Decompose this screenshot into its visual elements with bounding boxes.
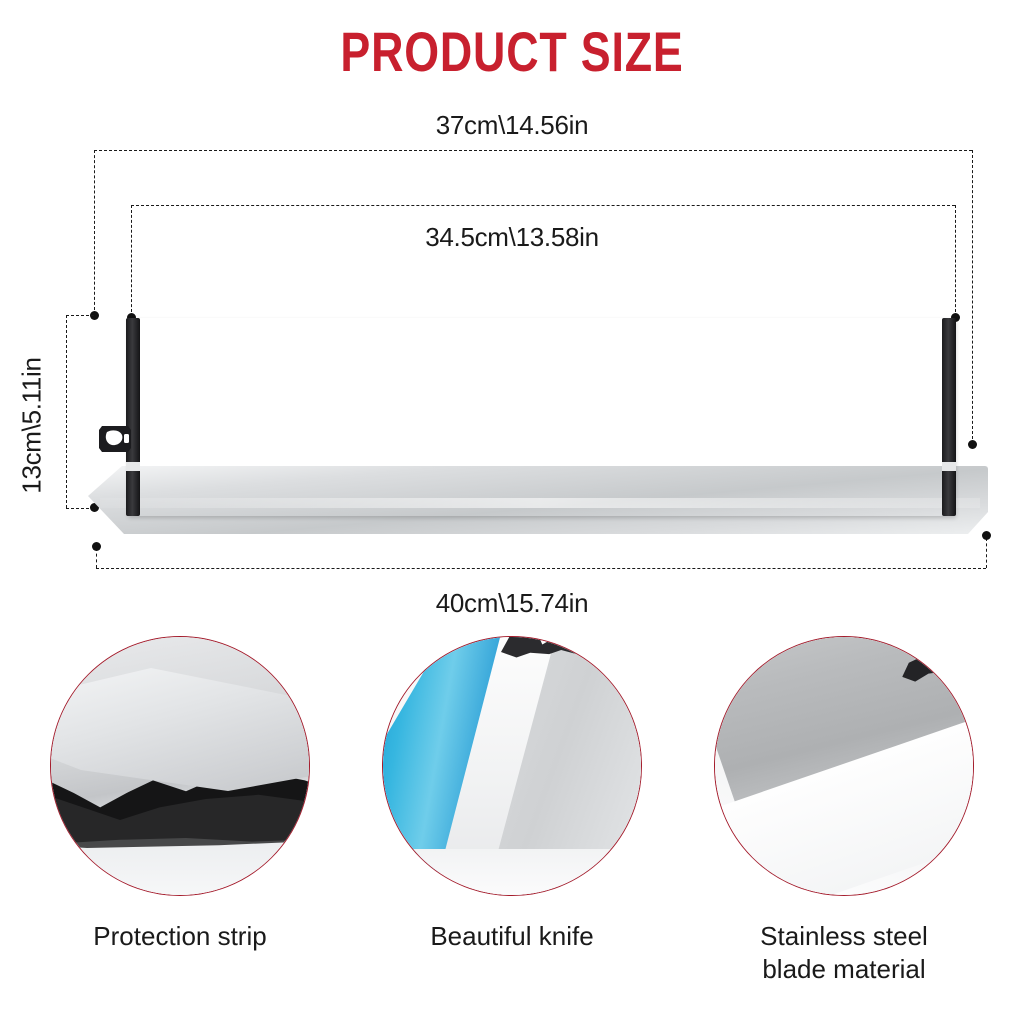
feature-beautiful-knife: Beautiful knife [342,636,682,953]
feature-caption-beautiful-knife: Beautiful knife [342,920,682,953]
feature-caption-stainless-steel-blade: Stainless steel blade material [674,920,1014,987]
endcap-gap-left [126,462,140,471]
feature-image-stainless-steel-blade [714,636,974,896]
feature-stainless-steel-blade: Stainless steel blade material [674,636,1014,987]
product-illustration [0,0,1024,640]
product-size-infographic: PRODUCT SIZE 37cm\14.56in 34.5cm\13.58in… [0,0,1024,1024]
feature-gallery: Protection strip Beautiful knife [0,636,1024,1024]
endcap-left [126,318,140,516]
feature-image-beautiful-knife [382,636,642,896]
endcap-gap-right [942,462,956,471]
feature-caption-protection-strip: Protection strip [10,920,350,953]
hanging-hook-icon [98,420,134,456]
feature-image-protection-strip [50,636,310,896]
feature-protection-strip: Protection strip [10,636,350,953]
endcap-right [942,318,956,516]
red-aluminium-body [128,318,956,516]
